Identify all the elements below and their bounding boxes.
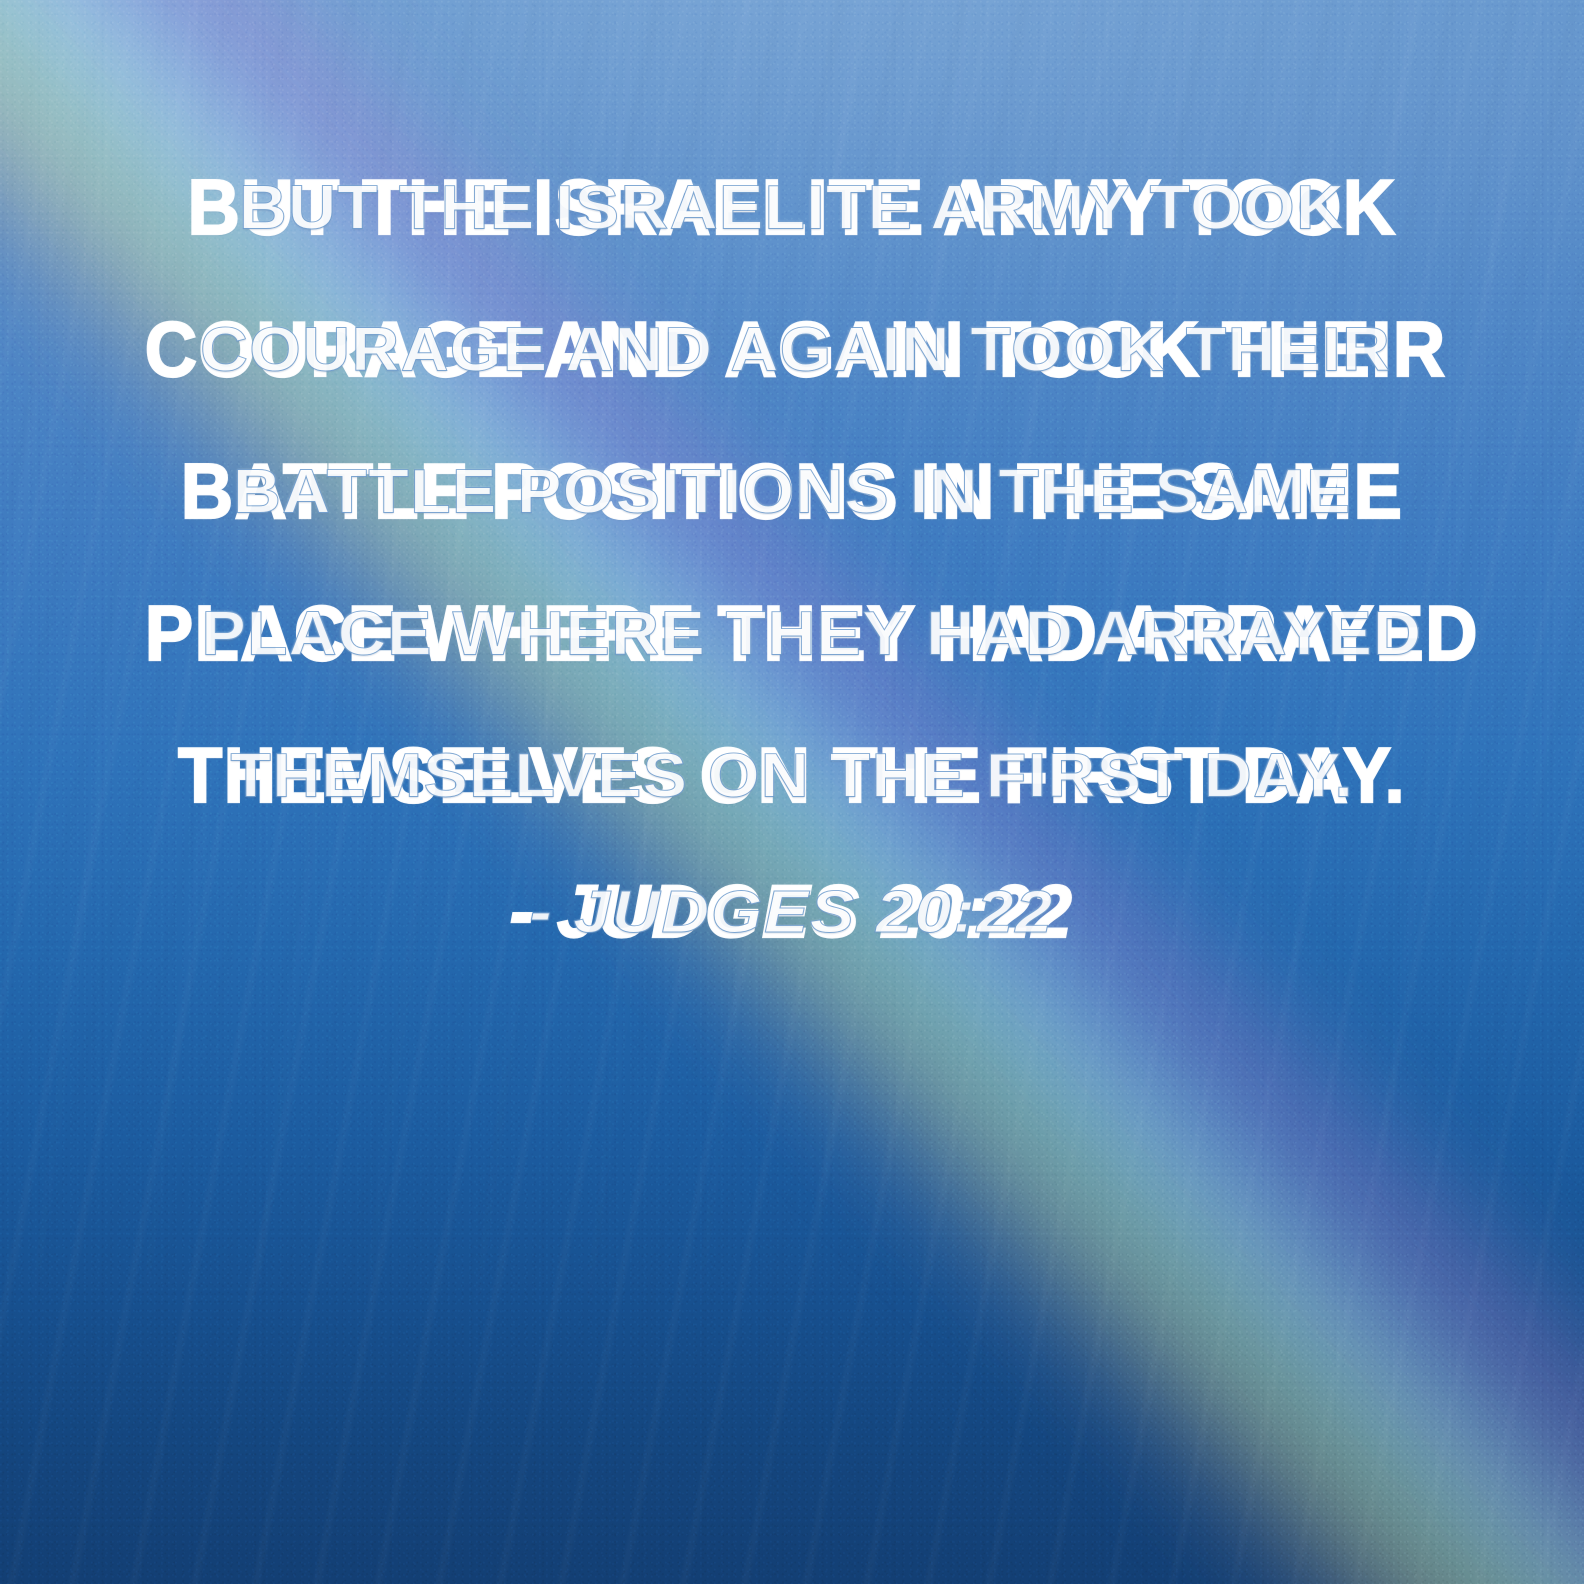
verse-line: PLACE WHERE THEY HAD ARRAYED bbox=[145, 562, 1440, 704]
verse-line: THEMSELVES ON THE FIRST DAY. bbox=[145, 704, 1440, 846]
verse-line: BUT THE ISRAELITE ARMY TOOK bbox=[145, 136, 1440, 278]
verse-line: BATTLE POSITIONS IN THE SAME bbox=[145, 420, 1440, 562]
verse-line-2-text: COURAGE AND AGAIN TOOK THEIR bbox=[145, 278, 1447, 420]
verse-reference-text: - JUDGES 20:22 bbox=[510, 862, 1074, 962]
verse-line-1-text: BUT THE ISRAELITE ARMY TOOK bbox=[187, 136, 1396, 278]
verse-line: COURAGE AND AGAIN TOOK THEIR bbox=[145, 278, 1440, 420]
verse-image-canvas: BUT THE ISRAELITE ARMY TOOK COURAGE AND … bbox=[0, 0, 1584, 1584]
verse-line-4-text: PLACE WHERE THEY HAD ARRAYED bbox=[145, 562, 1479, 704]
verse-attribution: - JUDGES 20:22 bbox=[0, 862, 1584, 962]
verse-line-5-text: THEMSELVES ON THE FIRST DAY. bbox=[178, 704, 1406, 846]
verse-text-block: BUT THE ISRAELITE ARMY TOOK COURAGE AND … bbox=[0, 136, 1584, 846]
verse-line-3-text: BATTLE POSITIONS IN THE SAME bbox=[181, 420, 1404, 562]
